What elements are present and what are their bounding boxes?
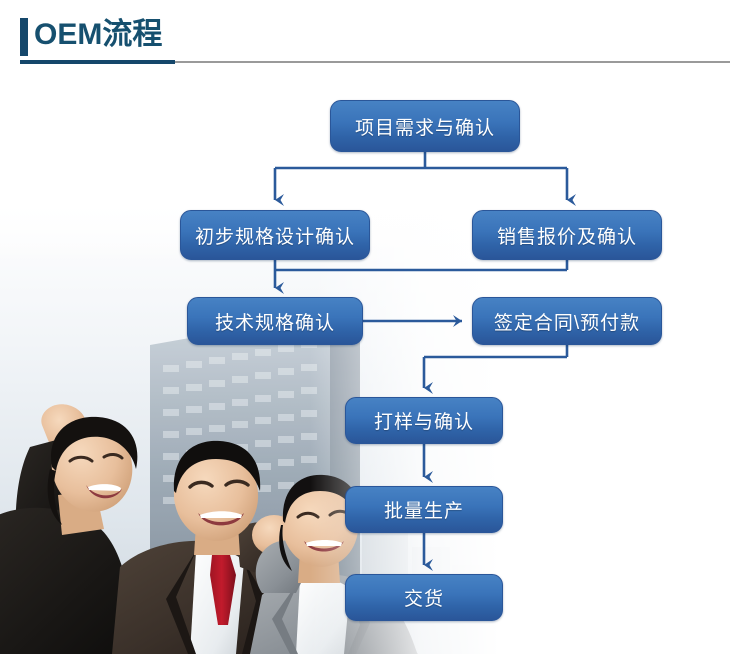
oem-process-page: OEM流程 (0, 0, 750, 654)
flow-node-spec-design[interactable]: 初步规格设计确认 (180, 210, 370, 260)
flow-node-delivery[interactable]: 交货 (345, 574, 503, 621)
header-divider-accent (20, 60, 175, 64)
flow-node-label: 交货 (404, 584, 444, 611)
title-accent-bar (20, 18, 28, 56)
flow-node-label: 初步规格设计确认 (195, 222, 355, 249)
page-header: OEM流程 (0, 0, 750, 70)
flow-node-label: 批量生产 (384, 496, 464, 523)
flow-node-production[interactable]: 批量生产 (345, 486, 503, 533)
flow-node-label: 销售报价及确认 (497, 222, 637, 249)
flow-node-label: 技术规格确认 (215, 308, 335, 335)
flow-node-requirements[interactable]: 项目需求与确认 (330, 100, 520, 152)
flow-node-contract[interactable]: 签定合同\预付款 (472, 297, 662, 345)
flow-node-label: 项目需求与确认 (355, 113, 495, 140)
page-title: OEM流程 (34, 16, 162, 54)
flow-node-tech-spec[interactable]: 技术规格确认 (187, 297, 363, 345)
flow-node-label: 签定合同\预付款 (494, 308, 640, 335)
flow-node-sampling[interactable]: 打样与确认 (345, 397, 503, 444)
flow-node-label: 打样与确认 (374, 407, 474, 434)
flow-node-sales-quote[interactable]: 销售报价及确认 (472, 210, 662, 260)
